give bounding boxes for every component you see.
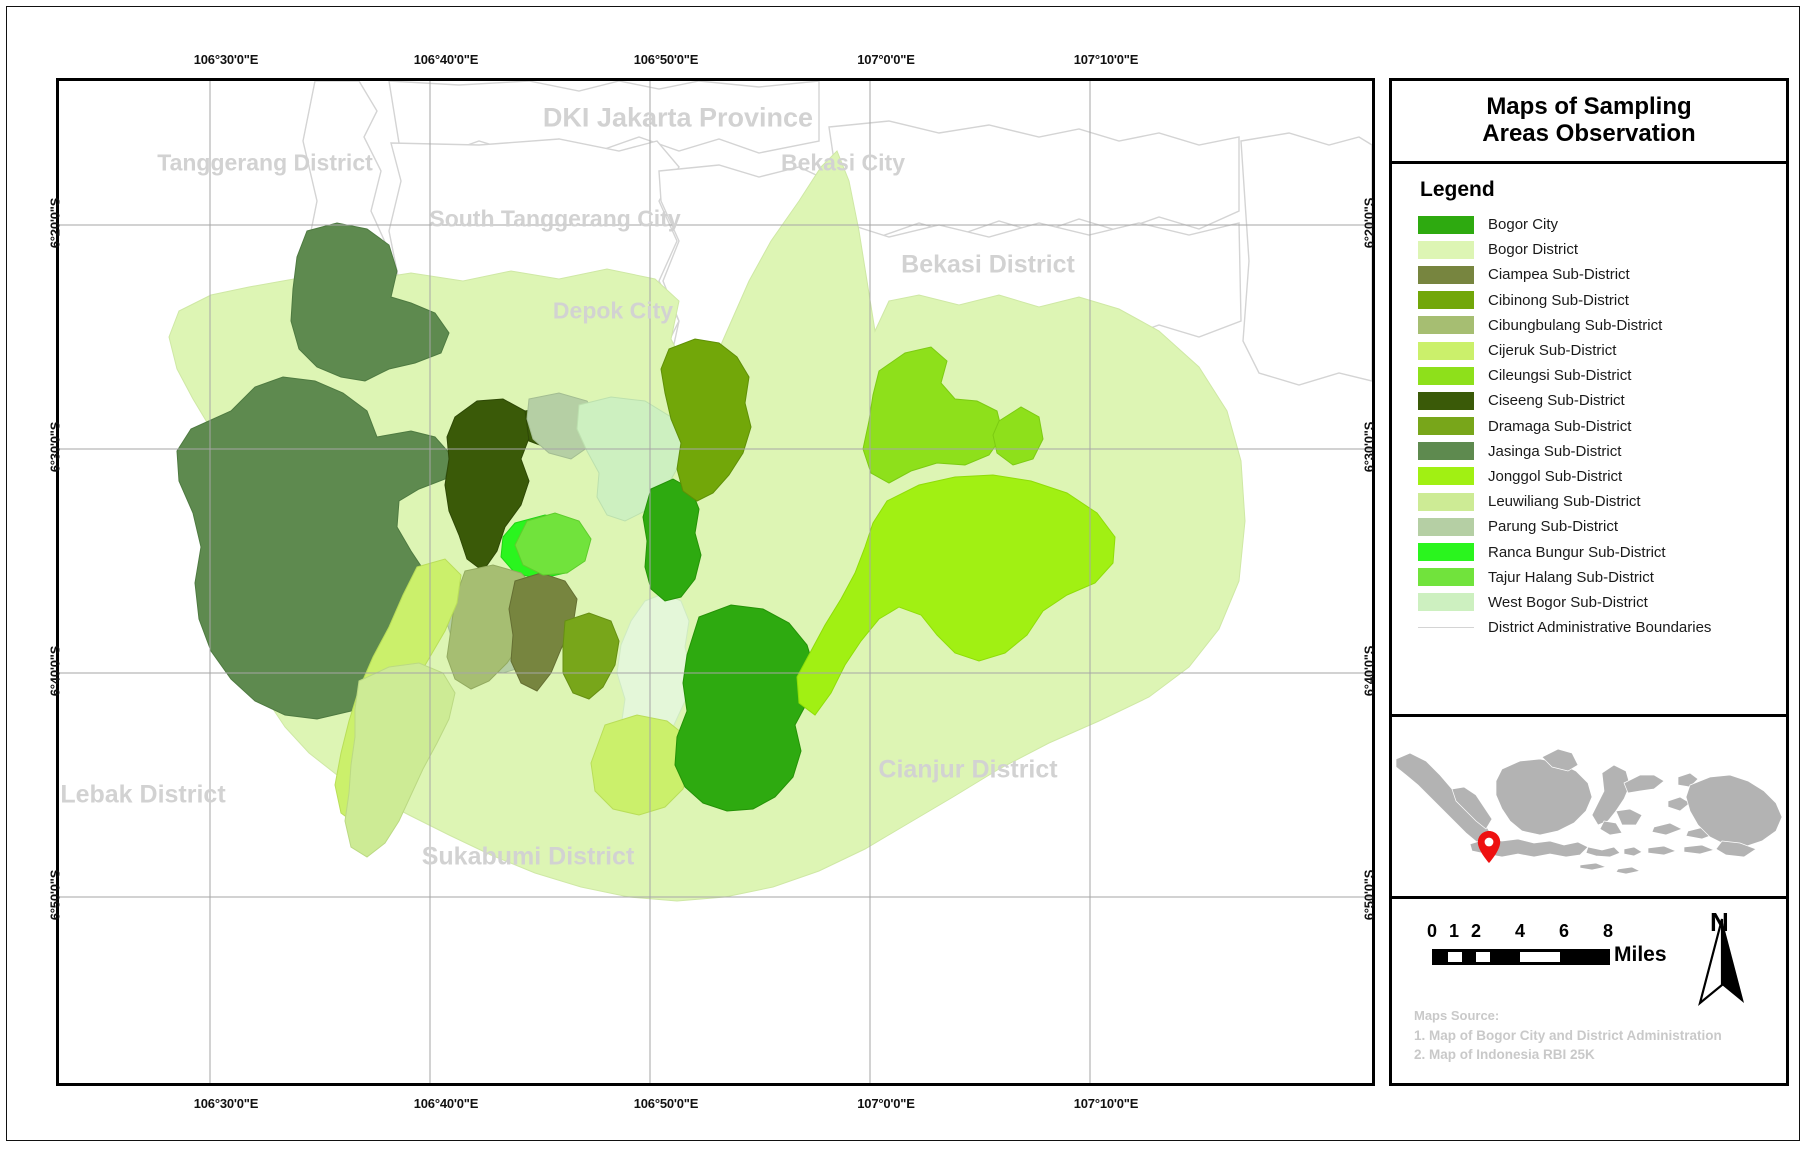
legend-color-swatch [1418,543,1474,561]
legend-color-swatch [1418,442,1474,460]
legend-item[interactable]: Cibinong Sub-District [1418,288,1786,313]
scale-bar-segment-white-3 [1520,952,1560,962]
legend-item-label: Jonggol Sub-District [1488,468,1622,485]
map-place-label: Bekasi District [901,251,1075,280]
legend-item-label: Cibinong Sub-District [1488,292,1629,309]
scale-bar-units-label: Miles [1614,943,1667,967]
scale-bar [1432,949,1610,965]
legend-item[interactable]: Cileungsi Sub-District [1418,363,1786,388]
legend-item[interactable]: District Administrative Boundaries [1418,615,1786,640]
legend-color-swatch [1418,342,1474,360]
indonesia-landmass [1396,749,1782,874]
latitude-tick-label: 6°50'0"S [1362,870,1377,920]
latitude-tick-label: 6°40'0"S [1362,646,1377,696]
map-place-label: Tanggerang District [157,150,373,177]
legend-item[interactable]: Cibungbulang Sub-District [1418,313,1786,338]
legend-item[interactable]: West Bogor Sub-District [1418,590,1786,615]
legend-item-label: Bogor District [1488,241,1578,258]
longitude-tick-label: 106°50'0"E [634,52,699,67]
legend-item-label: Ciseeng Sub-District [1488,392,1625,409]
latitude-tick-label: 6°50'0"S [48,870,63,920]
longitude-tick-label: 107°10'0"E [1074,52,1139,67]
legend-item[interactable]: Jasinga Sub-District [1418,439,1786,464]
legend-item-label: Parung Sub-District [1488,518,1618,535]
latitude-tick-label: 6°30'0"S [48,422,63,472]
boundary-line-icon [1418,627,1474,628]
scale-bar-segment-white-2 [1476,952,1490,962]
legend-item-list: Bogor CityBogor DistrictCiampea Sub-Dist… [1418,212,1786,640]
legend-color-swatch [1418,518,1474,536]
longitude-tick-label: 107°10'0"E [1074,1096,1139,1111]
legend-item[interactable]: Cijeruk Sub-District [1418,338,1786,363]
map-sources-heading: Maps Source: [1414,1007,1722,1026]
legend-item[interactable]: Parung Sub-District [1418,514,1786,539]
legend-item-label: District Administrative Boundaries [1488,619,1711,636]
north-arrow-icon [1692,911,1752,1011]
locator-inset-box [1389,714,1789,899]
map-source-item-1: 1. Map of Bogor City and District Admini… [1414,1026,1722,1046]
longitude-tick-label: 106°50'0"E [634,1096,699,1111]
scale-and-source-box: 012468 Miles N Maps Source: 1. Map of Bo… [1389,896,1789,1086]
map-title-line2: Areas Observation [1482,120,1695,147]
scale-bar-tick-label: 0 [1427,921,1437,942]
legend-color-swatch [1418,367,1474,385]
map-place-label: Bekasi City [781,150,905,177]
scale-bar-tick-label: 4 [1515,921,1525,942]
legend-item[interactable]: Ranca Bungur Sub-District [1418,539,1786,564]
study-area-location-pin [1478,831,1500,863]
legend-item-label: Dramaga Sub-District [1488,418,1631,435]
longitude-tick-label: 106°30'0"E [194,1096,259,1111]
longitude-tick-label: 107°0'0"E [857,52,914,67]
legend-item[interactable]: Ciseeng Sub-District [1418,388,1786,413]
legend-color-swatch [1418,467,1474,485]
legend-item[interactable]: Bogor City [1418,212,1786,237]
longitude-tick-label: 107°0'0"E [857,1096,914,1111]
map-canvas [59,81,1372,1083]
scale-bar-segment-white-1 [1448,952,1462,962]
map-place-label: Sukabumi District [422,843,635,872]
latitude-tick-label: 6°20'0"S [1362,198,1377,248]
map-place-label: Depok City [553,298,673,325]
map-source-item-2: 2. Map of Indonesia RBI 25K [1414,1045,1722,1065]
longitude-tick-label: 106°40'0"E [414,52,479,67]
map-title-line1: Maps of Sampling [1486,93,1691,120]
map-title-box: Maps of Sampling Areas Observation [1389,78,1789,164]
scale-bar-tick-label: 8 [1603,921,1613,942]
scale-bar-tick-label: 1 [1449,921,1459,942]
map-title: Maps of Sampling Areas Observation [1482,94,1695,148]
latitude-tick-label: 6°30'0"S [1362,422,1377,472]
legend-item-label: Leuwiliang Sub-District [1488,493,1641,510]
legend-color-swatch [1418,291,1474,309]
legend-box: Legend Bogor CityBogor DistrictCiampea S… [1389,161,1789,717]
legend-item-label: Cibungbulang Sub-District [1488,317,1662,334]
legend-color-swatch [1418,316,1474,334]
legend-heading: Legend [1420,178,1786,202]
scale-bar-tick-label: 2 [1471,921,1481,942]
map-marginalia-column: Maps of Sampling Areas Observation Legen… [1389,78,1789,1086]
legend-item[interactable]: Dramaga Sub-District [1418,414,1786,439]
legend-item-label: Cijeruk Sub-District [1488,342,1616,359]
legend-item-label: Ranca Bungur Sub-District [1488,544,1666,561]
legend-color-swatch [1418,392,1474,410]
latitude-tick-label: 6°20'0"S [48,198,63,248]
longitude-tick-label: 106°30'0"E [194,52,259,67]
map-geometry [59,81,1372,1083]
map-sources-block: Maps Source: 1. Map of Bogor City and Di… [1414,1007,1722,1065]
legend-item-label: West Bogor Sub-District [1488,594,1648,611]
legend-item[interactable]: Leuwiliang Sub-District [1418,489,1786,514]
map-place-label: Cianjur District [878,756,1057,785]
legend-item-label: Jasinga Sub-District [1488,443,1621,460]
legend-item[interactable]: Ciampea Sub-District [1418,262,1786,287]
legend-color-swatch [1418,216,1474,234]
legend-color-swatch [1418,417,1474,435]
legend-color-swatch [1418,266,1474,284]
map-place-label: Lebak District [60,781,225,810]
legend-color-swatch [1418,568,1474,586]
legend-color-swatch [1418,593,1474,611]
map-place-label: DKI Jakarta Province [543,103,813,134]
longitude-tick-label: 106°40'0"E [414,1096,479,1111]
legend-item-label: Ciampea Sub-District [1488,266,1630,283]
legend-item[interactable]: Tajur Halang Sub-District [1418,565,1786,590]
legend-color-swatch [1418,241,1474,259]
legend-item-label: Tajur Halang Sub-District [1488,569,1654,586]
latitude-tick-label: 6°40'0"S [48,646,63,696]
indonesia-locator-map [1392,717,1786,896]
legend-item-label: Bogor City [1488,216,1558,233]
legend-item-label: Cileungsi Sub-District [1488,367,1631,384]
legend-item[interactable]: Jonggol Sub-District [1418,464,1786,489]
legend-item[interactable]: Bogor District [1418,237,1786,262]
legend-color-swatch [1418,493,1474,511]
main-map-panel[interactable] [56,78,1375,1086]
scale-bar-tick-label: 6 [1559,921,1569,942]
legend-line-symbol [1418,619,1474,637]
map-place-label: South Tanggerang City [429,206,680,233]
